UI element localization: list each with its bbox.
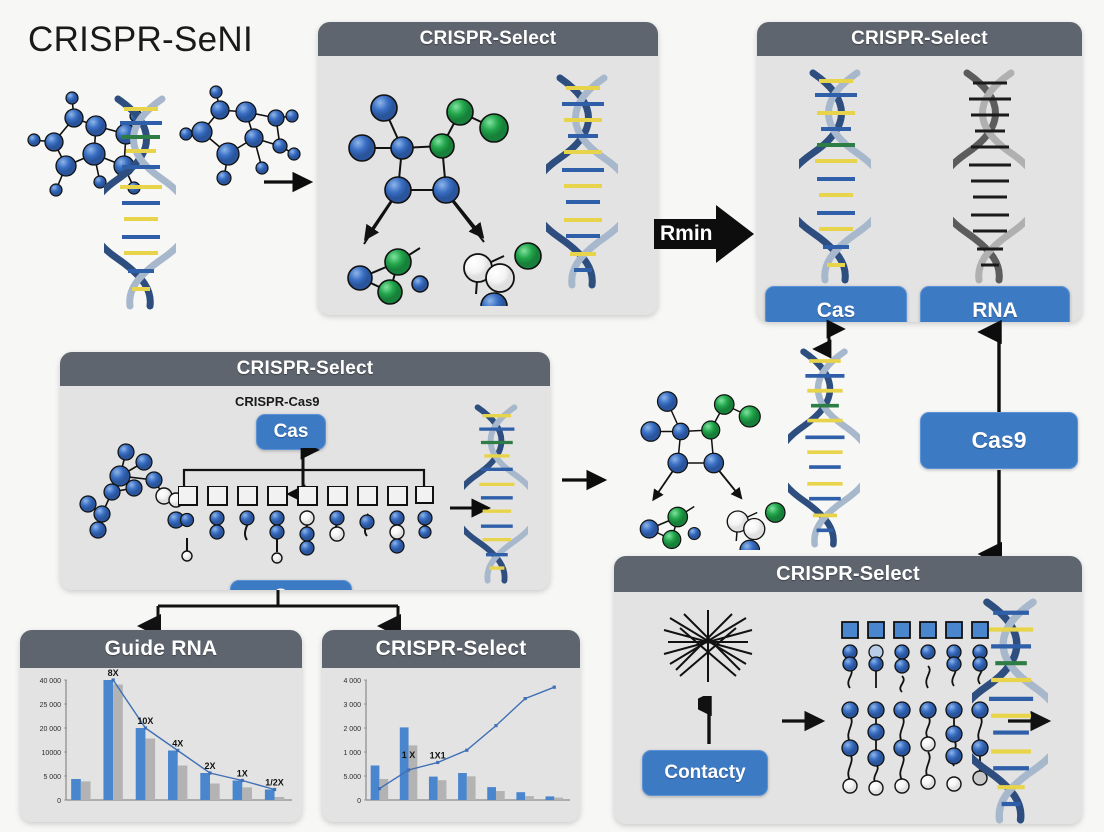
arrow-cas9-down [988,468,1010,560]
chart-line-marker [273,788,276,791]
panel-header-crispr-select-chart: CRISPR-Select [322,630,580,668]
molecule-cluster-top-middle [336,66,546,306]
dna-helix-top-left [104,95,176,310]
chart-bar [546,796,555,800]
chart-line-marker [378,787,381,790]
arrow-intro-to-top-panel [262,168,322,196]
dna-helix-cas [799,64,871,289]
chart-bar [429,777,438,800]
chart-line-marker [144,726,147,729]
chart-y-tick-label: 20 000 [40,726,62,733]
chart-y-tick-label: 10000 [42,750,62,757]
panel-crispr-select-top-right: CRISPR-Select [757,22,1082,322]
chart-bar [467,776,476,800]
chart-line-marker [208,771,211,774]
sequence-array-mid-left [178,486,438,578]
chart-bar [210,784,220,801]
chart-bar [458,773,467,800]
chart-y-tick-label: 4 000 [343,678,361,685]
chart-y-tick-label: 40 000 [40,678,62,685]
chart-bar [516,792,525,800]
chart-line-marker [465,749,468,752]
chart-line-marker [553,686,556,689]
panel-crispr-select-top-middle: CRISPR-Select [318,22,658,315]
chart-data-label: 8X [108,668,119,678]
page-title: CRISPR-SeNI [28,20,253,60]
chart-bar [496,791,505,800]
chart-bar [103,680,113,800]
chart-bar [242,787,252,800]
chart-bar [371,766,380,801]
chart-y-tick-label: 1 000 [343,750,361,757]
chart-bar [113,685,123,801]
panel-header-guide-rna: Guide RNA [20,630,302,668]
chart-bar [400,727,409,800]
chart-y-tick-label: 5.000 [343,774,361,781]
chart-data-label: 2X [204,761,215,771]
panel-crispr-select-mid-left: CRISPR-Select CRISPR-Cas9 Cas [60,352,550,590]
chart-bar [554,798,563,800]
panel-crispr-select-bottom-right: CRISPR-Select Contacty [614,556,1082,824]
chart-y-tick-label: 0 [57,798,61,805]
chart-data-label: 1X1 [430,751,446,761]
panel-header-mid-left: CRISPR-Select [60,352,550,386]
diagram-canvas: CRISPR-SeNI [0,0,1104,832]
chart-bar [71,779,81,800]
panel-body-crispr-select-chart: 4 0003 0002 0001 0005.00001X11 X [322,668,580,822]
button-cas-top-right[interactable]: Cas [765,286,907,322]
dna-helix-bottom-right [972,598,1048,824]
dna-helix-top-middle [546,64,618,299]
panel-header-top-middle: CRISPR-Select [318,22,658,56]
chart-bar [178,766,188,801]
label-crispr-cas9: CRISPR-Cas9 [235,394,320,409]
panel-body-guide-rna: 40 00025 00020 000100005 00008X10X4X2X1X… [20,668,302,822]
chart-bar [438,780,447,800]
mesh-network-icon [662,608,754,694]
chart-line-marker [176,749,179,752]
chart-bar [275,797,285,800]
dna-helix-mid-left [464,404,528,584]
button-cas9[interactable]: Cas9 [920,412,1078,469]
arrow-to-bead-grid [780,710,834,732]
chart-line-marker [407,768,410,771]
chart-bar [200,773,210,800]
chart-guide-rna: 40 00025 00020 000100005 00008X10X4X2X1X… [20,668,302,822]
chart-bar [487,787,496,800]
chart-data-label: 1/2X [265,778,284,788]
arrow-mid-to-center [560,468,616,492]
arrow-rna-up [988,322,1010,422]
button-cas-mid-bottom[interactable]: Cas [230,580,352,590]
chart-bar [168,751,178,801]
button-cas-mid-top[interactable]: Cas [256,414,326,450]
rna-helix-gray [953,64,1025,289]
chart-y-tick-label: 2 000 [343,726,361,733]
chart-bar [233,781,243,801]
chart-line-marker [494,724,497,727]
chart-line-marker [524,697,527,700]
panel-header-bottom-right: CRISPR-Select [614,556,1082,592]
button-contacty[interactable]: Contacty [642,750,768,796]
chart-y-tick-label: 25 000 [40,702,62,709]
chart-data-label: 4X [172,739,183,749]
panel-header-top-right: CRISPR-Select [757,22,1082,56]
chart-data-label: 1 X [402,750,416,760]
chart-y-tick-label: 3 000 [343,702,361,709]
chart-line-marker [241,779,244,782]
button-rna-top-right[interactable]: RNA [920,286,1070,322]
chart-data-label: 10X [137,716,153,726]
panel-body-bottom-right: Contacty [614,592,1082,824]
arrow-contacty-up [698,696,720,748]
chart-y-tick-label: 5 000 [43,774,61,781]
panel-crispr-select-chart: CRISPR-Select 4 0003 0002 0001 0005.0000… [322,630,580,822]
panel-body-mid-left: CRISPR-Cas9 Cas [60,386,550,590]
chart-data-label: 1X [237,769,248,779]
chart-y-tick-label: 0 [357,798,361,805]
chart-crispr-select: 4 0003 0002 0001 0005.00001X11 X [322,668,580,822]
chart-bar [81,781,91,800]
panel-guide-rna-chart: Guide RNA 40 00025 00020 000100005 00008… [20,630,302,822]
chart-line-marker [112,678,115,681]
chart-line-marker [436,761,439,764]
block-arrow-rmin: Rmin [654,205,754,263]
molecule-cluster-center [620,370,800,550]
panel-body-top-middle [318,56,658,315]
panel-body-top-right: Cas RNA [757,56,1082,322]
chart-bar [525,796,534,800]
chart-bar [145,739,155,801]
chart-bar [136,728,146,800]
block-arrow-rmin-label: Rmin [660,222,713,246]
